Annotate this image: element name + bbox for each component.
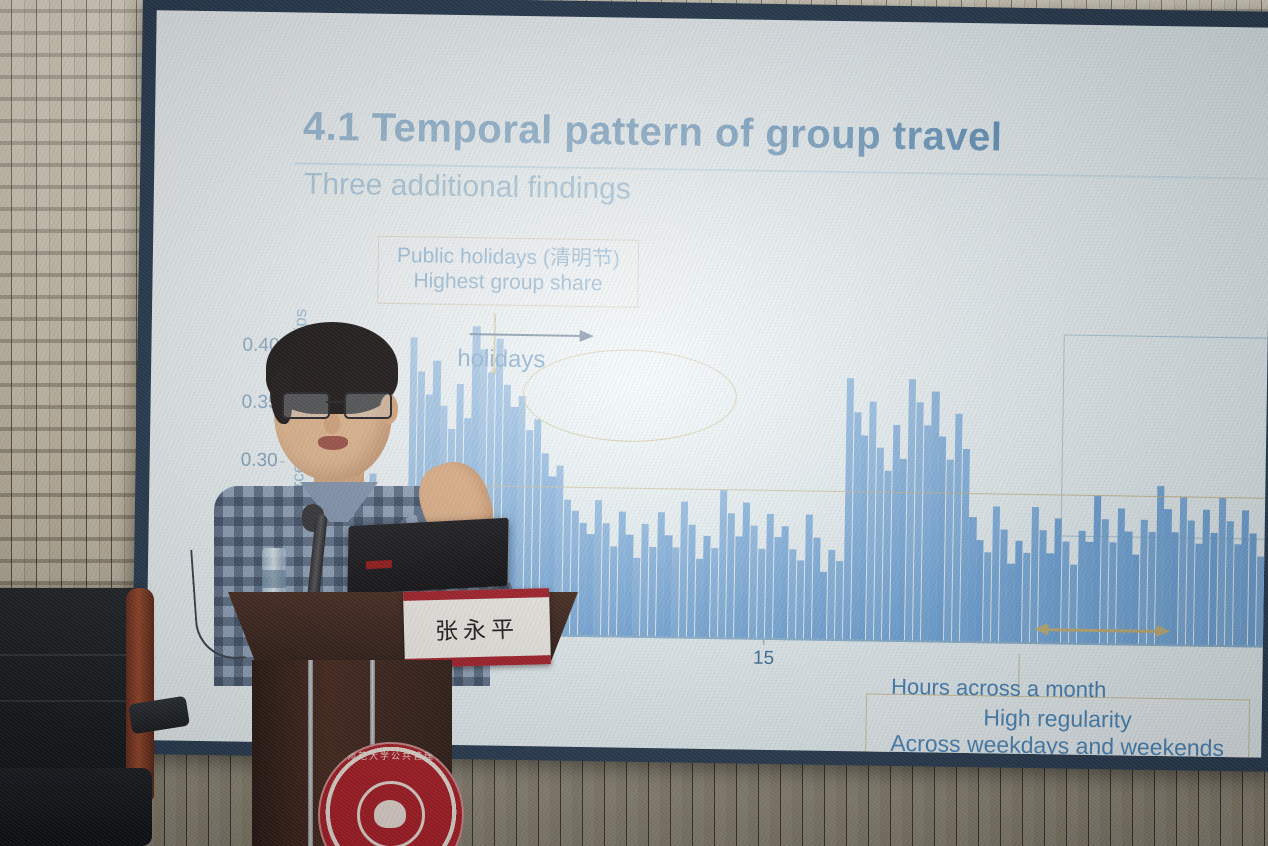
slide-title: 4.1 Temporal pattern of group travel — [303, 105, 1003, 161]
laptop-brand-logo — [366, 560, 392, 569]
nameplate-text: 张永平 — [435, 610, 520, 646]
callout-public-holidays: Public holidays (清明节) Highest group shar… — [377, 236, 639, 308]
chair-seam — [0, 654, 144, 656]
callout-bottom-line-2: Across weekdays and weekends — [890, 730, 1224, 758]
chart-x-axis-label: Hours across a month — [891, 674, 1107, 703]
glasses-icon — [280, 392, 392, 416]
emblem-center — [357, 781, 425, 846]
chair-backrest — [0, 588, 144, 776]
callout-top-line-2: Highest group share — [396, 269, 619, 297]
bottle-label — [262, 570, 286, 588]
presentation-photo: 4.1 Temporal pattern of group travel Thr… — [0, 0, 1268, 846]
glasses-bridge — [326, 401, 344, 403]
podium-rail — [308, 660, 313, 846]
chair-seam — [0, 700, 144, 702]
slide-subtitle: Three additional findings — [304, 168, 631, 207]
university-emblem-icon: 华中师范大学公共管理学院 — [318, 742, 464, 846]
podium-nameplate: 张永平 — [403, 588, 551, 668]
chair-seat — [0, 768, 152, 846]
presenter-laptop — [347, 518, 508, 594]
callout-high-regularity: High regularity Across weekdays and week… — [865, 693, 1250, 757]
glasses-lens-right — [344, 392, 392, 419]
glasses-lens-left — [282, 392, 330, 419]
emblem-ring-text: 华中师范大学公共管理学院 — [318, 749, 464, 762]
presenter-mouth — [318, 436, 348, 450]
callout-top-line-1: Public holidays (清明节) — [397, 244, 620, 272]
chart-x-tick: 15 — [753, 648, 774, 670]
chart-bar — [1264, 522, 1268, 648]
